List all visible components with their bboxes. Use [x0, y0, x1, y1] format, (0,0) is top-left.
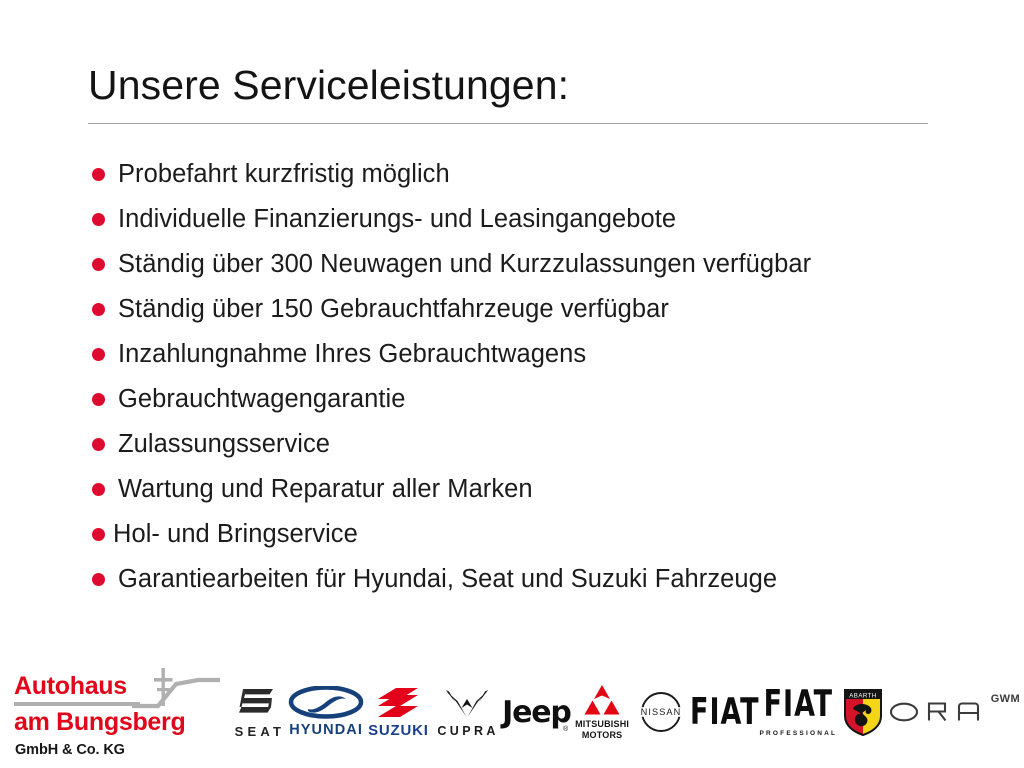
title-divider [88, 123, 928, 124]
service-label: Inzahlungnahme Ihres Gebrauchtwagens [118, 332, 586, 377]
brand-wordmark-mitsubishi-line1: MITSUBISHI [575, 719, 629, 729]
logo-underline [14, 702, 140, 706]
registered-mark: ® [563, 726, 568, 733]
service-list: Probefahrt kurzfristig möglich Individue… [92, 152, 972, 602]
brand-wordmark-nissan: NISSAN [641, 707, 682, 717]
brand-logo-suzuki: SUZUKI [364, 677, 432, 747]
bullet-dot-icon [92, 528, 105, 541]
brand-logo-cupra: CUPRA [433, 677, 501, 747]
hyundai-oval-h-logo-icon [288, 686, 364, 720]
service-label: Ständig über 300 Neuwagen und Kurzzulass… [118, 242, 811, 287]
suzuki-s-logo-icon [376, 686, 420, 720]
list-item: Individuelle Finanzierungs- und Leasinga… [92, 197, 972, 242]
brand-wordmark-abarth: ABARTH [849, 692, 877, 699]
service-label: Garantiearbeiten für Hyundai, Seat und S… [118, 557, 777, 602]
bullet-dot-icon [92, 393, 105, 406]
list-item: Ständig über 150 Gebrauchtfahrzeuge verf… [92, 287, 972, 332]
list-item: Garantiearbeiten für Hyundai, Seat und S… [92, 557, 972, 602]
bullet-dot-icon [92, 258, 105, 271]
brand-logo-strip: SEAT HYUNDAI SUZUKI [228, 672, 1020, 752]
seat-s-logo-icon [238, 686, 278, 720]
cupra-tribal-logo-icon [444, 687, 490, 721]
list-item: Ständig über 300 Neuwagen und Kurzzulass… [92, 242, 972, 287]
brand-wordmark-mitsubishi: MITSUBISHI MOTORS [575, 719, 629, 739]
brand-subwordmark-professional: PROFESSIONAL [759, 731, 837, 738]
mitsubishi-three-diamonds-logo-icon [578, 684, 626, 716]
service-label: Hol- und Bringservice [113, 512, 358, 557]
bullet-dot-icon [92, 438, 105, 451]
service-label: Zulassungsservice [118, 422, 330, 467]
list-item: Zulassungsservice [92, 422, 972, 467]
service-label: Ständig über 150 Gebrauchtfahrzeuge verf… [118, 287, 669, 332]
brand-wordmark-seat: SEAT [231, 725, 286, 738]
service-label: Probefahrt kurzfristig möglich [118, 152, 450, 197]
service-label: Individuelle Finanzierungs- und Leasinga… [118, 197, 676, 242]
brand-wordmark-fiat: FIAT [690, 691, 759, 734]
company-legal-form: GmbH & Co. KG [15, 742, 125, 758]
brand-wordmark-mitsubishi-line2: MOTORS [582, 730, 623, 740]
bungsberg-tower-hill-icon [132, 666, 220, 710]
brand-wordmark-cupra: CUPRA [434, 725, 498, 738]
brand-logo-seat: SEAT [228, 677, 288, 747]
brand-wordmark-jeep: Jeep [502, 695, 571, 730]
brand-logo-fiat-professional: FIAT PROFESSIONAL [759, 677, 837, 747]
brand-wordmark-fiat-professional: FIAT [764, 683, 833, 726]
ora-wordmark-icon [889, 697, 989, 727]
brand-logo-nissan: NISSAN [632, 677, 690, 747]
list-item: Wartung und Reparatur aller Marken [92, 467, 972, 512]
brand-logo-ora: GWM [889, 677, 1020, 747]
bullet-dot-icon [92, 573, 105, 586]
bullet-dot-icon [92, 168, 105, 181]
brand-subwordmark-gwm: GWM [991, 693, 1020, 705]
bullet-dot-icon [92, 483, 105, 496]
footer-bar: Autohaus am Bungsberg GmbH & Co. KG SEAT [0, 658, 1024, 768]
bullet-dot-icon [92, 303, 105, 316]
service-label: Wartung und Reparatur aller Marken [118, 467, 533, 512]
company-name-line1: Autohaus [14, 674, 127, 699]
abarth-scorpion-shield-logo-icon: ABARTH [842, 687, 884, 737]
list-item: Hol- und Bringservice [92, 512, 972, 557]
brand-logo-jeep: Jeep ® [501, 677, 572, 747]
bullet-dot-icon [92, 348, 105, 361]
brand-logo-fiat: FIAT [690, 677, 759, 747]
service-label: Gebrauchtwagengarantie [118, 377, 405, 422]
page-title: Unsere Serviceleistungen: [88, 62, 928, 109]
list-item: Probefahrt kurzfristig möglich [92, 152, 972, 197]
list-item: Gebrauchtwagengarantie [92, 377, 972, 422]
brand-wordmark-hyundai: HYUNDAI [289, 723, 363, 738]
company-logo: Autohaus am Bungsberg GmbH & Co. KG [14, 666, 219, 761]
brand-logo-abarth: ABARTH [837, 677, 889, 747]
brand-wordmark-suzuki: SUZUKI [368, 723, 429, 738]
nissan-circle-logo-icon: NISSAN [632, 689, 690, 735]
brand-logo-hyundai: HYUNDAI [288, 677, 364, 747]
title-block: Unsere Serviceleistungen: [88, 62, 928, 124]
slide-canvas: Unsere Serviceleistungen: Probefahrt kur… [0, 0, 1024, 768]
bullet-dot-icon [92, 213, 105, 226]
brand-logo-mitsubishi: MITSUBISHI MOTORS [572, 677, 632, 747]
company-name-line2: am Bungsberg [14, 710, 185, 735]
list-item: Inzahlungnahme Ihres Gebrauchtwagens [92, 332, 972, 377]
